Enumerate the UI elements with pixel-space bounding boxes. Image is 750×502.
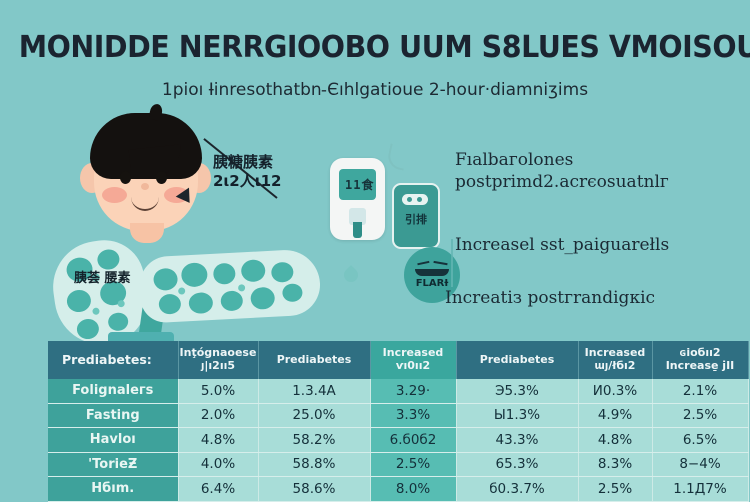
food-badge-caption: FLARƗ: [416, 278, 449, 289]
column-header-line: այ/łбı2: [579, 360, 652, 373]
table-cell: 6.4%: [178, 477, 258, 502]
table-cell: 58.8%: [258, 452, 370, 477]
table-column-header-3[interactable]: Increasedѵı0ıı2: [370, 341, 456, 379]
eye-right: [156, 171, 167, 184]
table-cell: 8.3%: [578, 452, 652, 477]
table-cell: 25.0%: [258, 403, 370, 428]
table-cell: 4.8%: [578, 428, 652, 453]
bullet-item-3: Increatiз postгrandigкic: [445, 288, 675, 310]
table-cell: Ы1.3%: [456, 403, 578, 428]
table-cell: 5.0%: [178, 379, 258, 403]
table-cell: 8−4%: [652, 452, 748, 477]
column-header-line: Prediabetes:: [62, 353, 178, 368]
table-cell: б0.3.7%: [456, 477, 578, 502]
table-column-header-6[interactable]: ɢiобıı2Increase̱ јІІ: [652, 341, 748, 379]
table-cell: Э5.3%: [456, 379, 578, 403]
table-cell: 1.3.4A: [258, 379, 370, 403]
table-row: 'TorieƵ4.0%58.8%2.5%65.3%8.3%8−4%: [48, 452, 748, 477]
illustration-area: 胰荟 腰素 胰糖胰素 2ι2人ι12 11食 引排 FLARƗ: [0, 105, 750, 345]
meter-test-strip: [353, 222, 362, 238]
meter-screen: 11食: [339, 169, 376, 200]
glucose-meter-icon: 11食: [330, 158, 385, 240]
table-column-header-0[interactable]: Prediabetes:: [48, 341, 178, 379]
hook-squiggle-icon: [386, 143, 409, 170]
table-cell: 6.5%: [652, 428, 748, 453]
table-cell: 58.6%: [258, 477, 370, 502]
table-column-header-5[interactable]: Increasedայ/łбı2: [578, 341, 652, 379]
pancreas-icon: 胰荟 腰素: [40, 233, 330, 345]
table-cell: 1.1Д7%: [652, 477, 748, 502]
insulin-callout: 胰糖胰素 2ι2人ι12: [213, 153, 333, 191]
table-header-row: Prediabetes:Inţógnaoeseյ|ı2ıı5Prediabete…: [48, 341, 748, 379]
pancreas-label: 胰荟 腰素: [74, 271, 146, 286]
bullet-2-line-1: Increasel ѕѕt_paiguarełls: [455, 235, 735, 257]
column-header-line: Prediabetes: [259, 354, 370, 367]
column-header-line: Increase̱ јІІ: [653, 360, 748, 373]
table-row: Fasting2.0%25.0%3.3%Ы1.3%4.9%2.5%: [48, 403, 748, 428]
table-column-header-4[interactable]: Prediabetes: [456, 341, 578, 379]
strip-window: [402, 194, 428, 205]
table-cell: 6.б0б2: [370, 428, 456, 453]
table-cell: 58.2%: [258, 428, 370, 453]
table-row: Folignaleгs5.0%1.3.4A3.29·Э5.3%И0.3%2.1%: [48, 379, 748, 403]
plate-cutlery-icon: [415, 262, 449, 276]
table-cell: 3.3%: [370, 403, 456, 428]
table-cell: И0.3%: [578, 379, 652, 403]
bullet-1-line-2: postprimd2.acrєosuatnlг: [455, 172, 735, 194]
row-label: 'TorieƵ: [48, 452, 178, 477]
data-table: Prediabetes:Inţógnaoeseյ|ı2ıı5Prediabete…: [48, 341, 749, 502]
column-header-line: յ|ı2ıı5: [179, 360, 258, 373]
table-header: Prediabetes:Inţógnaoeseյ|ı2ıı5Prediabete…: [48, 341, 748, 379]
table-cell: 4.9%: [578, 403, 652, 428]
table-row: Havloı4.8%58.2%6.б0б243.3%4.8%6.5%: [48, 428, 748, 453]
page-title: MONIDDE NERRGIOOBO UUM S8LUES VMOISOUVIO…: [19, 30, 732, 65]
table-cell: 2.5%: [578, 477, 652, 502]
leaf-icon: [341, 265, 361, 285]
table-cell: 2.5%: [652, 403, 748, 428]
table-column-header-1[interactable]: Inţógnaoeseյ|ı2ıı5: [178, 341, 258, 379]
eye-left: [120, 171, 131, 184]
table-body: Folignaleгs5.0%1.3.4A3.29·Э5.3%И0.3%2.1%…: [48, 379, 748, 501]
table-cell: 2.0%: [178, 403, 258, 428]
row-label: Hбım.: [48, 477, 178, 502]
row-label: Fasting: [48, 403, 178, 428]
page-subtitle: 1pioı Ɨinresothatbn ̵Єıhlgatioue 2-hour·…: [0, 80, 750, 100]
bullet-1-line-1: Fıalbaгolones: [455, 150, 735, 172]
column-header-line: ѵı0ıı2: [371, 360, 456, 373]
bullet-item-2: Increasel ѕѕt_paiguarełls: [455, 235, 735, 257]
callout-line-2: 2ι2人ι12: [213, 172, 333, 192]
cheek-left: [102, 187, 127, 203]
bullet-item-1: Fıalbaгolones postprimd2.acrєosuatnlг: [455, 150, 735, 194]
pancreas-body-lobe: [138, 248, 321, 323]
table-cell: 4.8%: [178, 428, 258, 453]
test-strip-device-icon: 引排: [392, 183, 440, 249]
strip-label: 引排: [394, 211, 438, 227]
child-avatar-icon: [78, 111, 213, 241]
table-cell: 65.3%: [456, 452, 578, 477]
table-row: Hбım.6.4%58.6%8.0%б0.3.7%2.5%1.1Д7%: [48, 477, 748, 502]
table-cell: 3.29·: [370, 379, 456, 403]
table-column-header-2[interactable]: Prediabetes: [258, 341, 370, 379]
infographic-page: MONIDDE NERRGIOOBO UUM S8LUES VMOISOUVIO…: [0, 0, 750, 500]
row-label: Havloı: [48, 428, 178, 453]
table-cell: 4.0%: [178, 452, 258, 477]
callout-line-1: 胰糖胰素: [213, 153, 333, 172]
nose: [141, 183, 149, 190]
table-cell: 2.5%: [370, 452, 456, 477]
meter-reading: 11食: [345, 176, 374, 193]
table-cell: 2.1%: [652, 379, 748, 403]
row-label: Folignaleгs: [48, 379, 178, 403]
column-header-line: Prediabetes: [457, 354, 578, 367]
vertical-divider: [451, 239, 453, 287]
table-cell: 43.3%: [456, 428, 578, 453]
bullet-3-line-1: Increatiз postгrandigкic: [445, 288, 675, 310]
table-cell: 8.0%: [370, 477, 456, 502]
